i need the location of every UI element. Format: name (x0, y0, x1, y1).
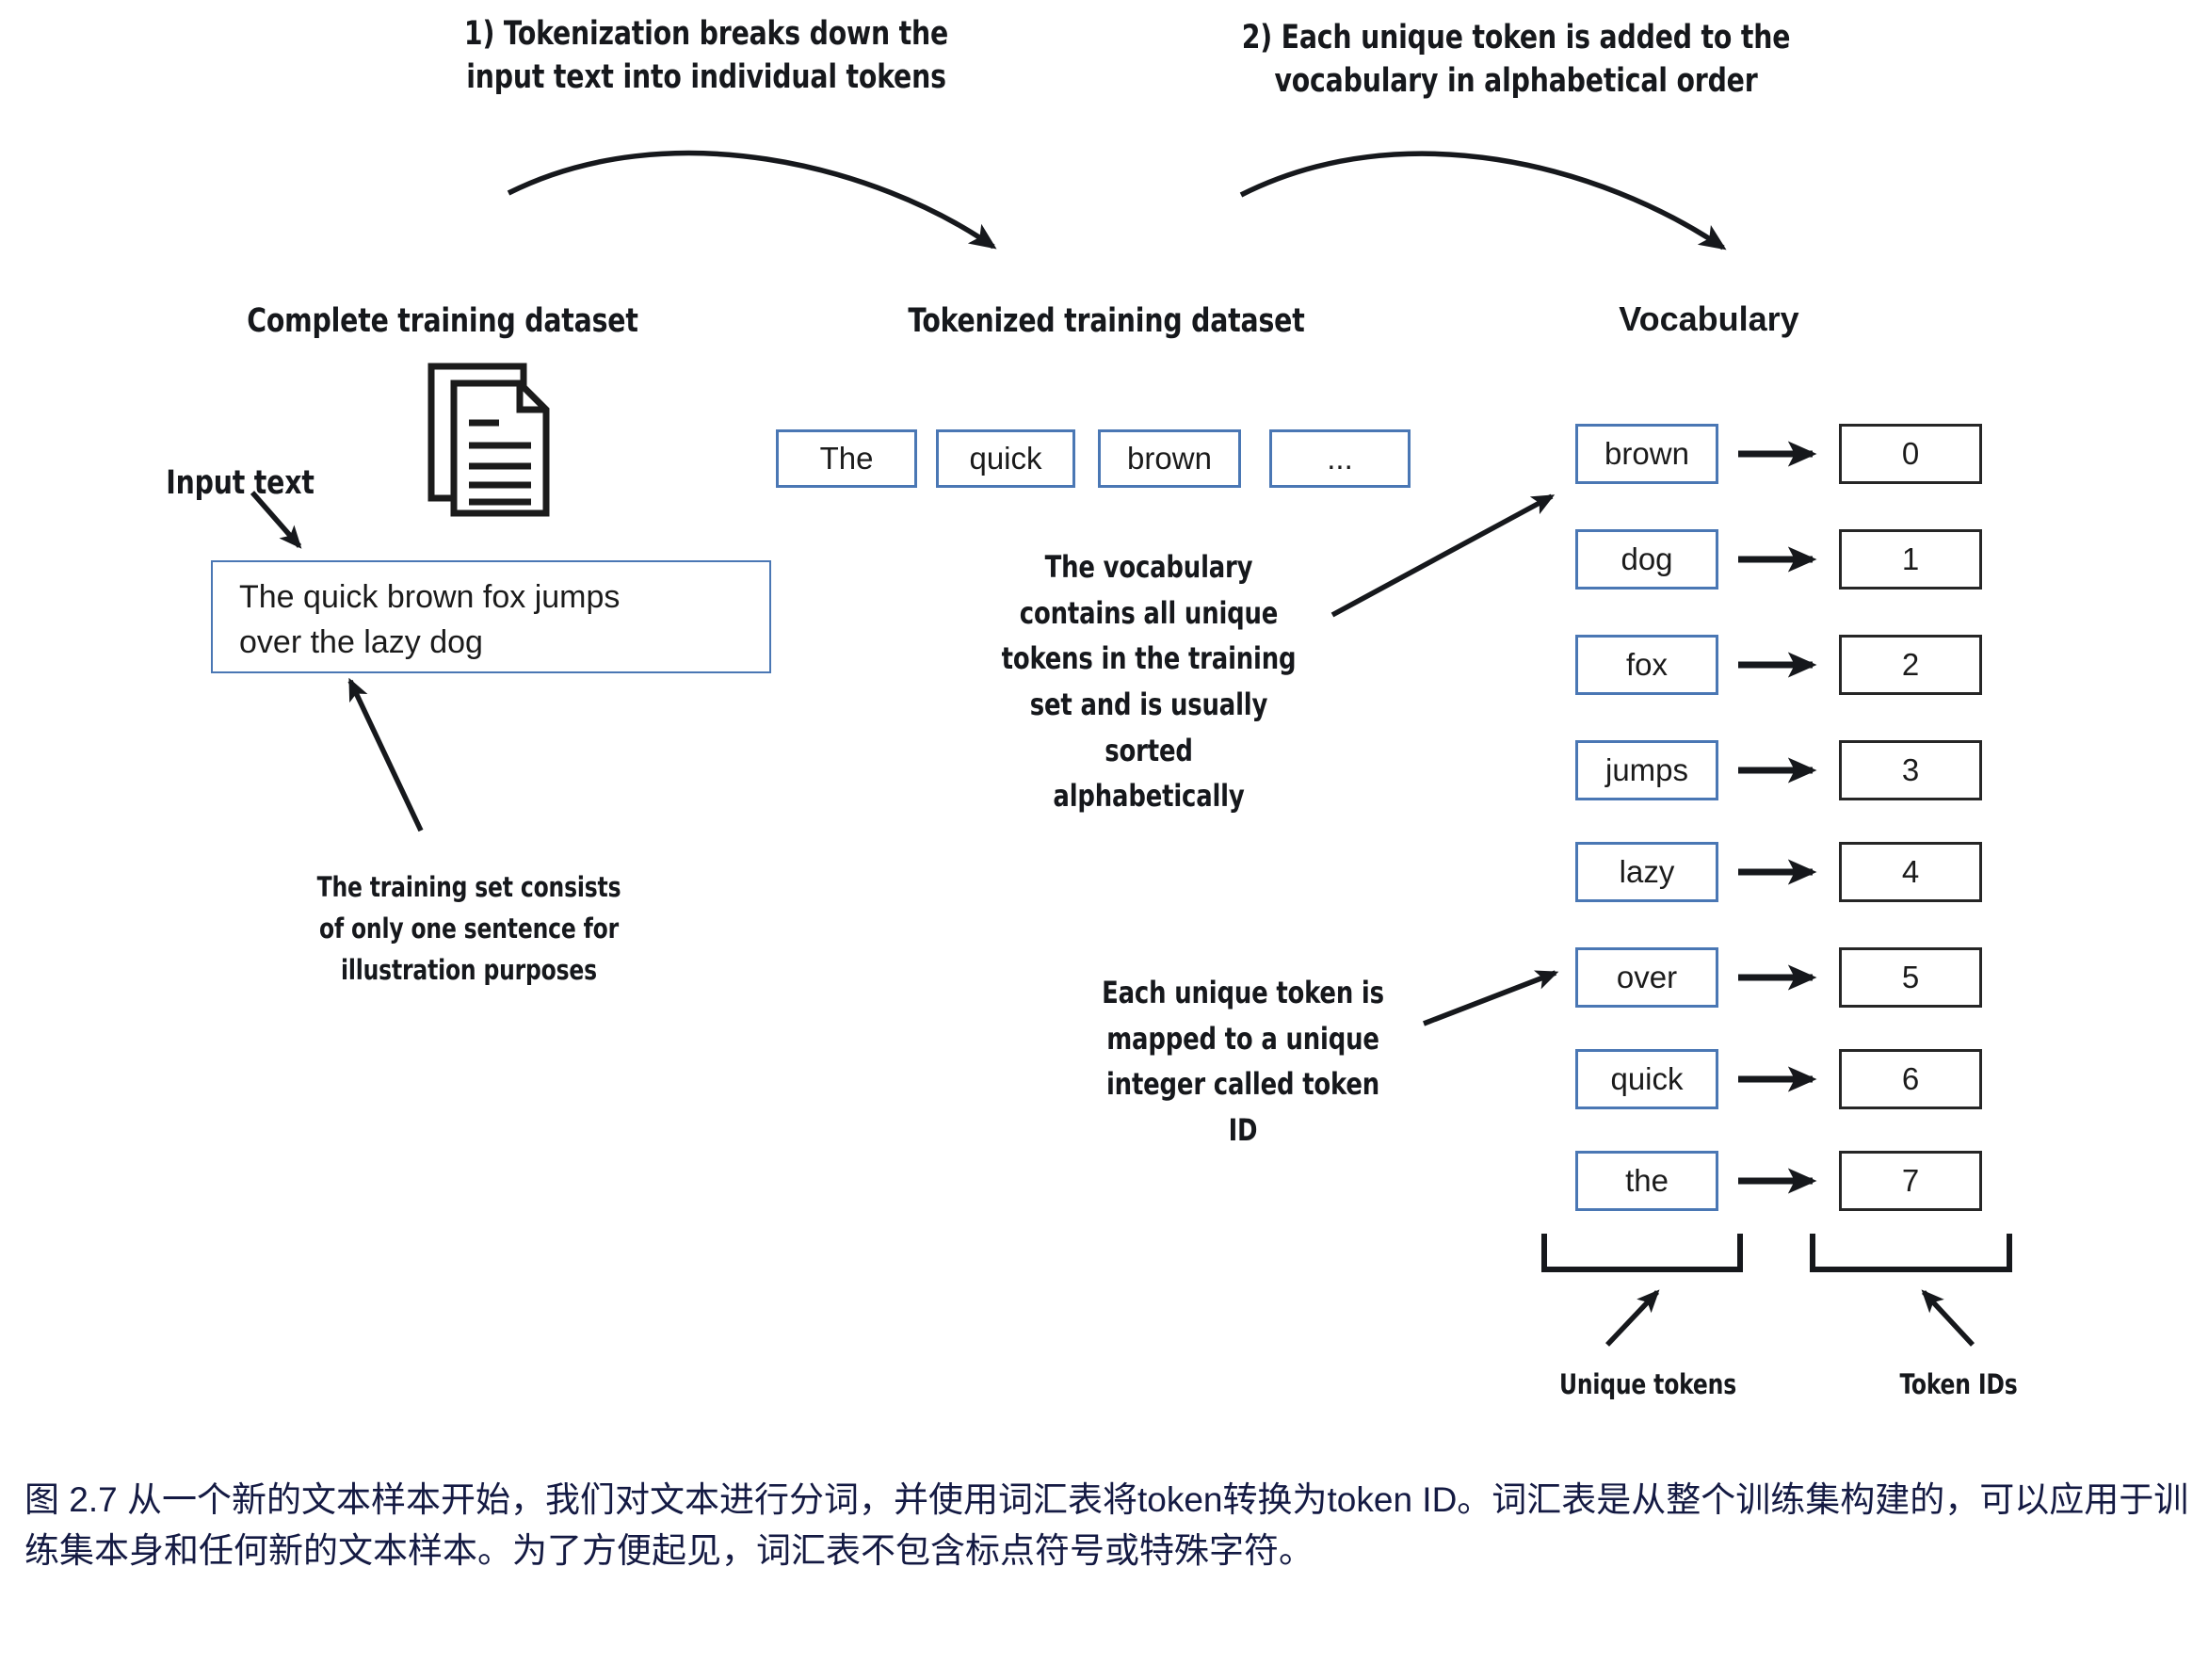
curved-arrow-tokenize (508, 153, 993, 247)
vocabulary-note-line-1: The vocabulary (962, 544, 1335, 590)
vocab-id-5[interactable]: 5 (1839, 947, 1982, 1008)
tokenized-dataset-header: Tokenized training dataset (874, 297, 1340, 347)
vocab-token-2-label: fox (1626, 647, 1668, 684)
vocab-token-0-label: brown (1604, 436, 1689, 473)
vocab-id-3[interactable]: 3 (1839, 740, 1982, 800)
vocab-token-6[interactable]: quick (1575, 1049, 1718, 1109)
figure-caption: 图 2.7 从一个新的文本样本开始，我们对文本进行分词，并使用词汇表将token… (24, 1475, 2190, 1577)
training-set-note-line-1: The training set consists (282, 866, 655, 908)
token-id-note-line-4: ID (1082, 1107, 1404, 1154)
vocab-id-3-label: 3 (1902, 752, 1919, 788)
token-box-2-label: brown (1127, 441, 1212, 477)
vocab-id-6[interactable]: 6 (1839, 1049, 1982, 1109)
vocabulary-note-line-5: sorted (962, 728, 1335, 774)
connector-overlay (0, 0, 2209, 1680)
curved-arrow-vocabulary (1241, 153, 1723, 248)
token-ids-label: Token IDs (1831, 1364, 2086, 1405)
vocab-token-1-label: dog (1620, 541, 1672, 578)
vocab-id-7-label: 7 (1902, 1163, 1919, 1199)
vocab-token-0[interactable]: brown (1575, 424, 1718, 484)
vocab-token-6-label: quick (1610, 1061, 1683, 1098)
token-box-0[interactable]: The (776, 429, 917, 488)
token-box-2[interactable]: brown (1098, 429, 1241, 488)
vocab-id-0-label: 0 (1902, 436, 1919, 472)
vocabulary-note: The vocabulary contains all unique token… (962, 544, 1335, 819)
arrow-vocab-note-to-brown (1332, 496, 1552, 615)
bracket-unique-tokens (1544, 1234, 1740, 1269)
vocab-id-5-label: 5 (1902, 960, 1919, 995)
vocab-token-5[interactable]: over (1575, 947, 1718, 1008)
vocab-id-4[interactable]: 4 (1839, 842, 1982, 902)
vocab-token-2[interactable]: fox (1575, 635, 1718, 695)
token-id-note: Each unique token is mapped to a unique … (1082, 970, 1404, 1154)
vocab-id-2[interactable]: 2 (1839, 635, 1982, 695)
vocabulary-note-line-2: contains all unique (962, 590, 1335, 637)
unique-tokens-label: Unique tokens (1495, 1364, 1800, 1405)
vocabulary-note-line-4: set and is usually (962, 682, 1335, 728)
input-sentence-line-2: over the lazy dog (239, 620, 769, 665)
vocab-token-1[interactable]: dog (1575, 529, 1718, 590)
token-id-note-line-2: mapped to a unique (1082, 1016, 1404, 1062)
training-set-note: The training set consists of only one se… (282, 866, 655, 991)
token-box-0-label: The (820, 441, 874, 477)
step-1-line-1: 1) Tokenization breaks down the (435, 13, 977, 57)
vocab-token-7[interactable]: the (1575, 1151, 1718, 1211)
token-box-1-label: quick (969, 441, 1041, 477)
vocabulary-note-line-3: tokens in the training (962, 636, 1335, 682)
input-sentence-line-1: The quick brown fox jumps (239, 574, 769, 620)
step-2-label: 2) Each unique token is added to the voc… (1211, 17, 1821, 103)
token-id-note-line-3: integer called token (1082, 1061, 1404, 1107)
vocab-token-3[interactable]: jumps (1575, 740, 1718, 800)
complete-dataset-header: Complete training dataset (214, 297, 671, 347)
token-box-3-label: ... (1327, 441, 1353, 477)
vocab-id-4-label: 4 (1902, 854, 1919, 890)
vocab-id-7[interactable]: 7 (1839, 1151, 1982, 1211)
vocab-token-4[interactable]: lazy (1575, 842, 1718, 902)
arrow-tokenid-note-to-over (1424, 973, 1556, 1024)
token-box-3[interactable]: ... (1269, 429, 1411, 488)
training-set-note-line-2: of only one sentence for (282, 908, 655, 949)
vocab-id-1[interactable]: 1 (1839, 529, 1982, 590)
vocab-id-0[interactable]: 0 (1839, 424, 1982, 484)
step-1-line-2: input text into individual tokens (435, 57, 977, 100)
arrow-unique-tokens-label (1607, 1292, 1657, 1345)
token-id-note-line-1: Each unique token is (1082, 970, 1404, 1016)
input-text-box[interactable]: The quick brown fox jumps over the lazy … (211, 560, 771, 673)
vocab-token-5-label: over (1617, 960, 1677, 996)
vocab-id-2-label: 2 (1902, 647, 1919, 683)
document-stack-icon (426, 363, 557, 518)
step-2-line-2: vocabulary in alphabetical order (1211, 60, 1821, 104)
vocab-id-1-label: 1 (1902, 541, 1919, 577)
vocabulary-note-line-6: alphabetically (962, 773, 1335, 819)
token-box-1[interactable]: quick (936, 429, 1075, 488)
vocab-token-4-label: lazy (1620, 854, 1675, 891)
vocab-token-3-label: jumps (1605, 752, 1688, 789)
arrow-token-ids-label (1924, 1292, 1973, 1345)
input-text-label: Input text (147, 459, 333, 509)
step-2-line-1: 2) Each unique token is added to the (1211, 17, 1821, 60)
arrow-training-note-to-box (350, 681, 421, 831)
step-1-label: 1) Tokenization breaks down the input te… (435, 13, 977, 99)
bracket-token-ids (1813, 1234, 2009, 1269)
vocab-id-6-label: 6 (1902, 1061, 1919, 1097)
vocabulary-header: Vocabulary (1558, 299, 1860, 339)
training-set-note-line-3: illustration purposes (282, 949, 655, 991)
vocab-token-7-label: the (1625, 1163, 1669, 1200)
